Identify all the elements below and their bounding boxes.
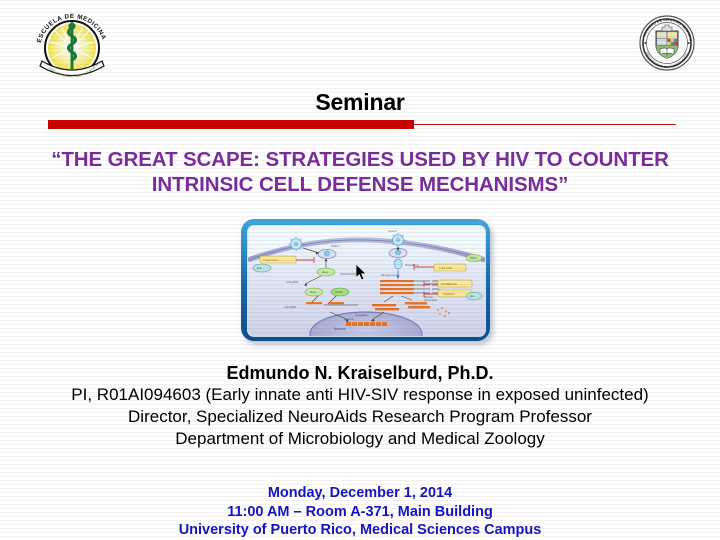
seminar-topic-title-line-1: “THE GREAT SCAPE: STRATEGIES USED BY HIV… bbox=[12, 147, 708, 172]
speaker-affiliation-line-2: Director, Specialized NeuroAids Research… bbox=[6, 406, 714, 428]
svg-text:Env: Env bbox=[257, 266, 262, 270]
event-details: Monday, December 1, 2014 11:00 AM – Room… bbox=[6, 484, 714, 540]
svg-text:Reverse transcr.: Reverse transcr. bbox=[381, 273, 400, 277]
svg-text:Gag: Gag bbox=[310, 290, 316, 294]
upr-medical-sciences-seal: RECINTO DE CIENCIAS MEDICAS UNIVERSIDAD … bbox=[636, 12, 698, 74]
svg-text:Nucleus: Nucleus bbox=[334, 327, 346, 331]
seminar-announcement-slide: UNIVERSIDAD DE PUERTO RICO ESCUELA DE ME… bbox=[0, 0, 720, 540]
event-institution: University of Puerto Rico, Medical Scien… bbox=[6, 521, 714, 540]
svg-text:SAMHD1: SAMHD1 bbox=[443, 292, 456, 296]
mouse-cursor-icon bbox=[356, 264, 368, 281]
event-date: Monday, December 1, 2014 bbox=[6, 484, 714, 503]
speaker-affiliation-line-1: PI, R01AI094603 (Early innate anti HIV-S… bbox=[6, 384, 714, 406]
svg-text:Integration: Integration bbox=[355, 313, 368, 317]
svg-text:T-20 inhib: T-20 inhib bbox=[439, 266, 453, 270]
divider-thick-bar bbox=[48, 120, 414, 129]
svg-text:virus 1: virus 1 bbox=[388, 229, 397, 233]
svg-text:APOBEC3G: APOBEC3G bbox=[441, 282, 458, 286]
svg-text:transcription: transcription bbox=[424, 299, 438, 302]
speaker-info: Edmundo N. Kraiselburd, Ph.D. PI, R01AI0… bbox=[6, 362, 714, 450]
svg-text:TRIM: TRIM bbox=[470, 256, 478, 260]
escuela-de-medicina-logo-svg: UNIVERSIDAD DE PUERTO RICO ESCUELA DE ME… bbox=[30, 8, 114, 84]
page-title: Seminar bbox=[0, 89, 720, 116]
upr-medical-sciences-seal-svg: RECINTO DE CIENCIAS MEDICAS UNIVERSIDAD … bbox=[636, 12, 698, 74]
svg-text:viral gRNA: viral gRNA bbox=[284, 305, 297, 309]
svg-text:PIC2: PIC2 bbox=[335, 290, 342, 294]
seminar-topic-title: “THE GREAT SCAPE: STRATEGIES USED BY HIV… bbox=[12, 147, 708, 197]
speaker-name: Edmundo N. Kraiselburd, Ph.D. bbox=[6, 362, 714, 384]
escuela-de-medicina-logo: UNIVERSIDAD DE PUERTO RICO ESCUELA DE ME… bbox=[30, 8, 114, 84]
svg-text:Gag: Gag bbox=[322, 270, 328, 274]
hiv-replication-figure-frame: Nucleus provirus bbox=[241, 219, 490, 341]
svg-text:Vpu: Vpu bbox=[470, 294, 475, 298]
svg-text:viral gRNA: viral gRNA bbox=[286, 280, 299, 284]
hiv-replication-figure: Nucleus provirus bbox=[247, 225, 486, 337]
speaker-affiliation-line-3: Department of Microbiology and Medical Z… bbox=[6, 428, 714, 450]
svg-text:Trascription: Trascription bbox=[263, 258, 279, 262]
svg-text:Uncoating: Uncoating bbox=[405, 263, 419, 267]
event-time-location: 11:00 AM – Room A-371, Main Building bbox=[6, 503, 714, 522]
hiv-replication-diagram-svg: Nucleus provirus bbox=[248, 226, 485, 336]
seminar-topic-title-line-2: INTRINSIC CELL DEFENSE MECHANISMS” bbox=[12, 172, 708, 197]
svg-text:Fusion: Fusion bbox=[331, 244, 340, 248]
